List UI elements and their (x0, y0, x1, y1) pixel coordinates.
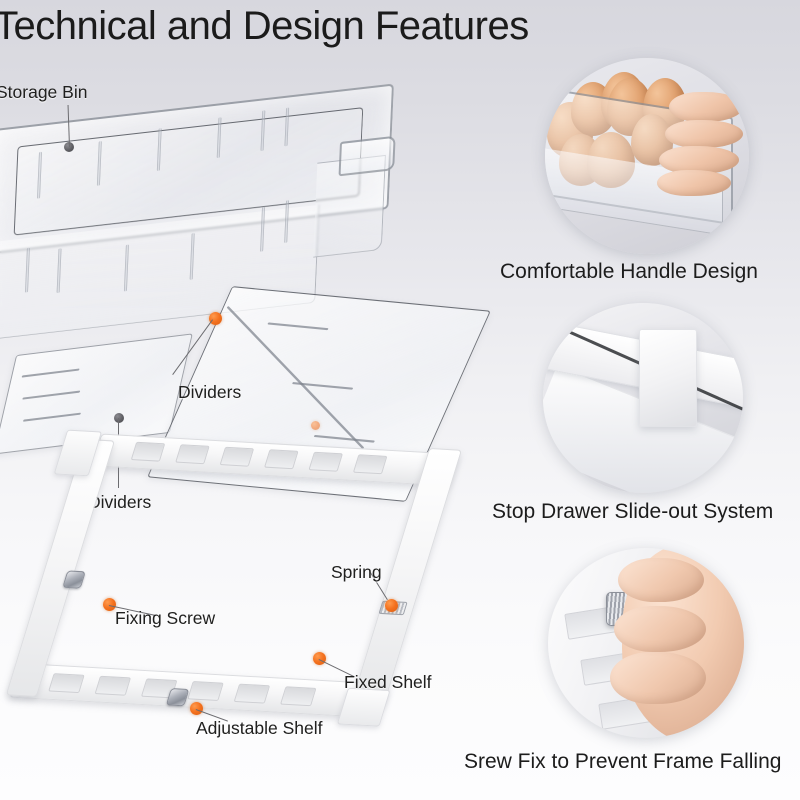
fixing-screw-part (62, 570, 86, 588)
photo-finger (657, 170, 731, 196)
feature-caption-screw-fix: Srew Fix to Prevent Frame Falling (464, 750, 781, 774)
photo-finger (618, 558, 704, 602)
photo-finger (610, 652, 706, 704)
frame-slot (131, 442, 166, 462)
divider-center-rib (226, 306, 364, 450)
callout-label-storage-bin: Storage Bin (0, 82, 87, 103)
callout-label-dividers-upper: Dividers (178, 382, 241, 403)
divider-notch (267, 322, 328, 330)
divider-notch (22, 391, 80, 401)
feature-photo-comfortable-handle (545, 58, 749, 254)
divider-notch (23, 413, 81, 423)
marker-spring (385, 599, 398, 612)
frame-slot (220, 447, 255, 467)
frame-slot (280, 686, 317, 706)
bin-handle-lip (339, 136, 396, 177)
callout-label-fixing-screw: Fixing Screw (115, 608, 215, 629)
feature-photo-screw-fix (548, 548, 744, 738)
feature-caption-stop-drawer: Stop Drawer Slide-out System (492, 500, 773, 524)
callout-label-adjustable-shelf: Adjustable Shelf (196, 718, 322, 739)
frame-rail-left (6, 439, 115, 697)
page-title: Technical and Design Features (0, 4, 529, 49)
frame-slot (234, 684, 271, 704)
feature-photo-stop-drawer (543, 303, 743, 493)
shelf-frame-illustration (0, 426, 478, 744)
photo-finger (614, 606, 706, 652)
callout-label-spring: Spring (331, 562, 382, 583)
photo-stopper-block (639, 329, 697, 427)
callout-label-fixed-shelf: Fixed Shelf (344, 672, 432, 693)
divider-notch (21, 368, 79, 378)
marker-dividers-upper (209, 312, 222, 325)
infographic-canvas: Technical and Design Features Storage Bi… (0, 0, 800, 800)
frame-slot (308, 452, 343, 472)
frame-slot (175, 444, 210, 464)
photo-finger (669, 92, 743, 122)
frame-slot (353, 454, 388, 474)
frame-slot (264, 449, 299, 469)
frame-slot (95, 676, 132, 696)
marker-dividers-lower (114, 413, 124, 423)
marker-divider-slot (311, 421, 320, 430)
photo-finger (665, 120, 743, 148)
feature-caption-comfortable-handle: Comfortable Handle Design (500, 260, 758, 284)
frame-slot (48, 673, 85, 693)
frame-slot (187, 681, 224, 701)
